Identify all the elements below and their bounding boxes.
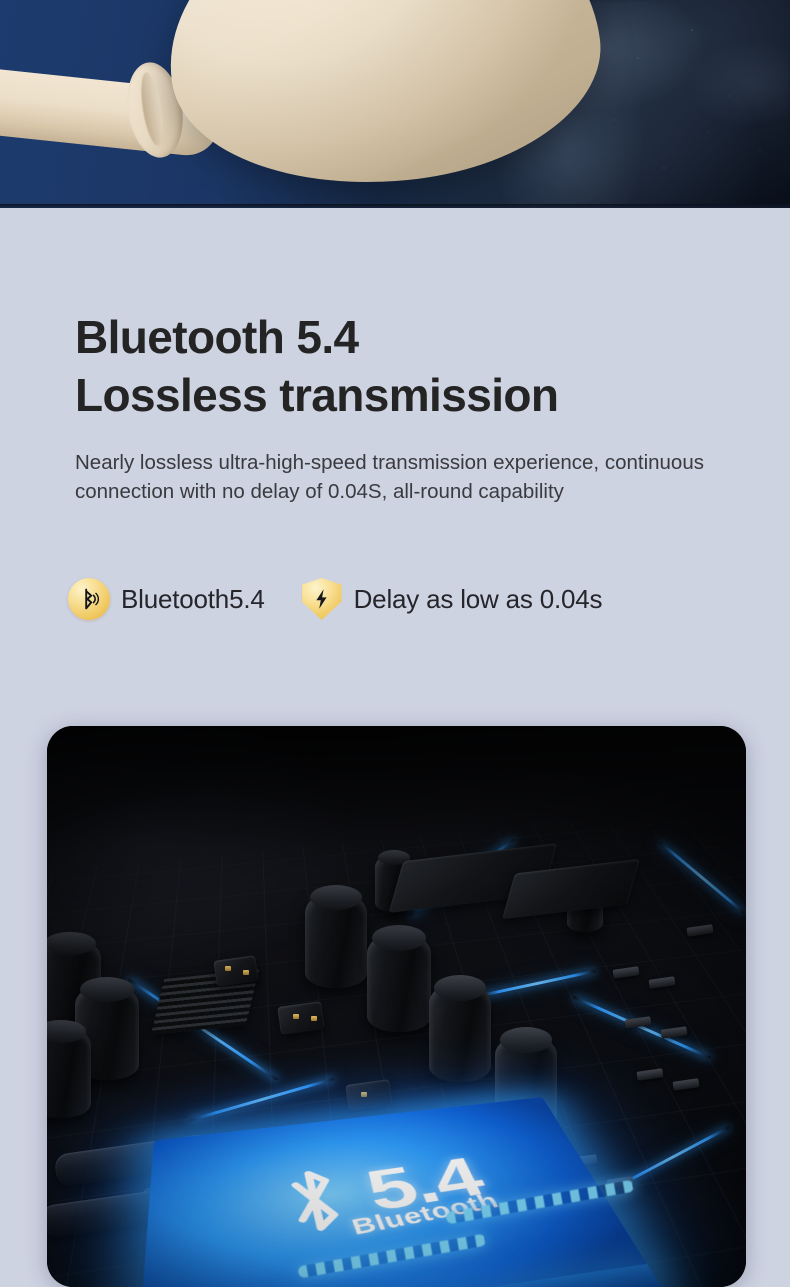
gold-pad xyxy=(293,1014,299,1019)
headline-line-2: Lossless transmission xyxy=(75,366,790,424)
bluetooth-chip-artwork: 5.4 Bluetooth xyxy=(261,1141,498,1250)
subcopy-text: Nearly lossless ultra-high-speed transmi… xyxy=(0,424,790,506)
badge-delay-label: Delay as low as 0.04s xyxy=(354,584,603,615)
gold-pad xyxy=(243,970,249,975)
bluetooth-chip-photo: 5.4 Bluetooth xyxy=(47,726,746,1287)
badge-bluetooth-label: Bluetooth5.4 xyxy=(121,584,265,615)
bluetooth-signal-icon xyxy=(68,578,110,620)
capacitor xyxy=(305,892,367,988)
feature-badge-row: Bluetooth5.4 Delay as low as 0.04s xyxy=(0,506,790,620)
badge-bluetooth: Bluetooth5.4 xyxy=(68,578,265,620)
gold-pad xyxy=(311,1016,317,1021)
page-title: Bluetooth 5.4 Lossless transmission xyxy=(0,208,790,424)
headline-line-1: Bluetooth 5.4 xyxy=(75,311,359,363)
hero-banner xyxy=(0,0,790,208)
gold-pad xyxy=(225,966,231,971)
gold-pad xyxy=(361,1092,367,1097)
capacitor xyxy=(367,932,431,1032)
capacitor xyxy=(429,982,491,1082)
shield-lightning-icon xyxy=(301,578,343,620)
capacitor xyxy=(47,1026,91,1118)
content-section: Bluetooth 5.4 Lossless transmission Near… xyxy=(0,208,790,620)
badge-delay: Delay as low as 0.04s xyxy=(301,578,603,620)
